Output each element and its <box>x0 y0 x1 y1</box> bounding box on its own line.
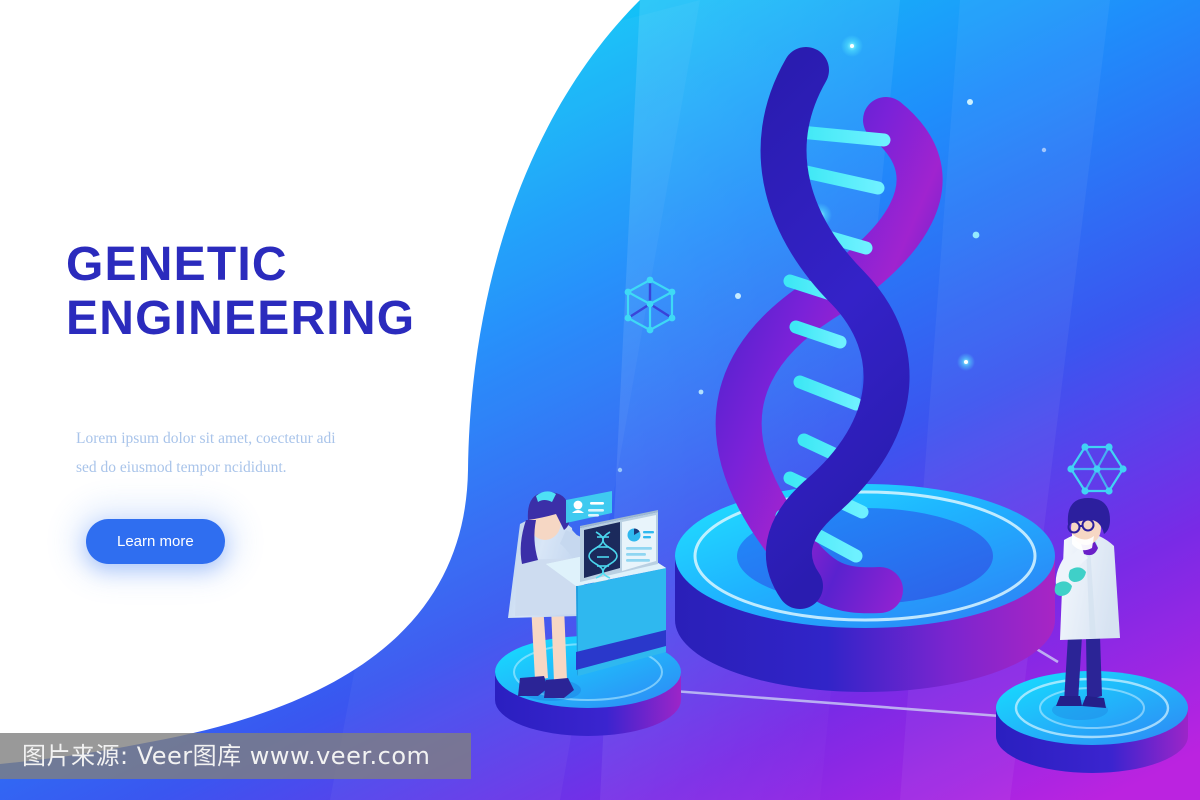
hero-subtext: Lorem ipsum dolor sit amet, coectetur ad… <box>76 425 416 482</box>
learn-more-button[interactable]: Learn more <box>86 519 225 564</box>
scene-artwork <box>0 0 1200 800</box>
cta-wrapper: Learn more <box>86 519 225 564</box>
watermark-text: 图片来源: Veer图库 www.veer.com <box>22 733 430 779</box>
illustration-canvas: GENETIC ENGINEERING Lorem ipsum dolor si… <box>0 0 1200 800</box>
page-title: GENETIC ENGINEERING <box>66 238 466 346</box>
hero-text-block: GENETIC ENGINEERING <box>66 238 466 346</box>
